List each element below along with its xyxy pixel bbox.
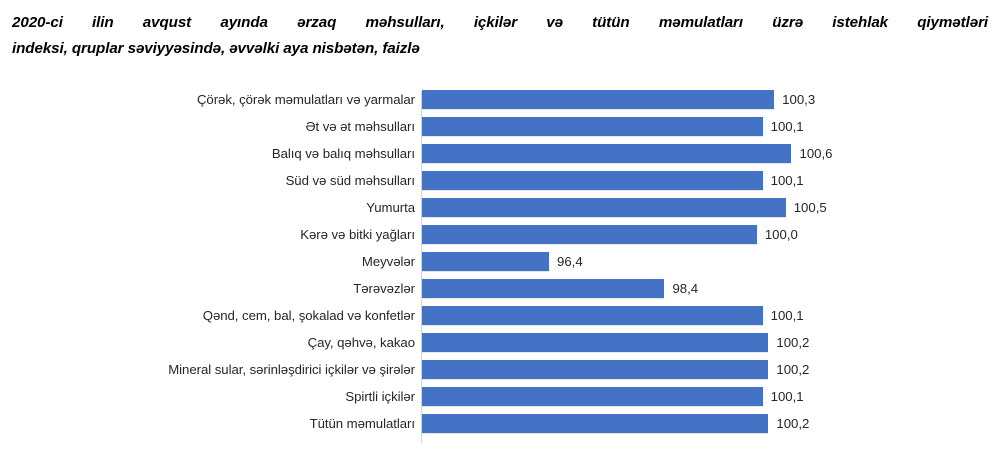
category-label: Meyvələr: [362, 248, 415, 275]
chart-title-line-1: 2020-ci ilin avqust ayında ərzaq məhsull…: [12, 10, 988, 36]
bar-track: 100,6: [422, 144, 982, 163]
category-label: Çörək, çörək məmulatları və yarmalar: [197, 86, 415, 113]
bar-value-label: 100,1: [771, 171, 804, 190]
bar-track: 100,5: [422, 198, 982, 217]
bar-track: 100,0: [422, 225, 982, 244]
bar[interactable]: [422, 198, 786, 217]
bar-row: Yumurta100,5: [0, 194, 1000, 221]
bar[interactable]: [422, 306, 763, 325]
bar-track: 100,1: [422, 306, 982, 325]
bar-track: 100,3: [422, 90, 982, 109]
bar-track: 100,1: [422, 171, 982, 190]
bar-value-label: 100,0: [765, 225, 798, 244]
bar-track: 96,4: [422, 252, 982, 271]
bar[interactable]: [422, 225, 757, 244]
bar-row: Süd və süd məhsulları100,1: [0, 167, 1000, 194]
bar-row: Çay, qəhvə, kakao100,2: [0, 329, 1000, 356]
bar-value-label: 100,5: [794, 198, 827, 217]
bar-row: Mineral sular, sərinləşdirici içkilər və…: [0, 356, 1000, 383]
bar-row: Qənd, cem, bal, şokalad və konfetlər100,…: [0, 302, 1000, 329]
bar-row: Çörək, çörək məmulatları və yarmalar100,…: [0, 86, 1000, 113]
category-label: Süd və süd məhsulları: [286, 167, 415, 194]
category-label: Ət və ət məhsulları: [306, 113, 415, 140]
bar-track: 100,2: [422, 414, 982, 433]
bar-track: 100,1: [422, 387, 982, 406]
chart-title-line-2: indeksi, qruplar səviyyəsində, əvvəlki a…: [12, 36, 988, 62]
bar-track: 100,1: [422, 117, 982, 136]
bar-value-label: 100,1: [771, 387, 804, 406]
bar[interactable]: [422, 333, 768, 352]
bar-track: 100,2: [422, 360, 982, 379]
bar[interactable]: [422, 171, 763, 190]
bar-series: Çörək, çörək məmulatları və yarmalar100,…: [0, 86, 1000, 437]
bar-track: 100,2: [422, 333, 982, 352]
bar[interactable]: [422, 414, 768, 433]
bar-row: Spirtli içkilər100,1: [0, 383, 1000, 410]
bar-track: 98,4: [422, 279, 982, 298]
chart-plot-area: Çörək, çörək məmulatları və yarmalar100,…: [0, 86, 1000, 446]
bar-row: Kərə və bitki yağları100,0: [0, 221, 1000, 248]
category-label: Mineral sular, sərinləşdirici içkilər və…: [168, 356, 415, 383]
bar-value-label: 100,2: [776, 360, 809, 379]
bar-row: Balıq və balıq məhsulları100,6: [0, 140, 1000, 167]
bar-row: Ət və ət məhsulları100,1: [0, 113, 1000, 140]
bar[interactable]: [422, 387, 763, 406]
bar-row: Tərəvəzlər98,4: [0, 275, 1000, 302]
chart-title: 2020-ci ilin avqust ayında ərzaq məhsull…: [12, 10, 988, 62]
bar[interactable]: [422, 117, 763, 136]
bar-row: Tütün məmulatları100,2: [0, 410, 1000, 437]
bar-value-label: 100,1: [771, 117, 804, 136]
bar[interactable]: [422, 144, 791, 163]
bar-value-label: 100,1: [771, 306, 804, 325]
bar[interactable]: [422, 360, 768, 379]
category-label: Tərəvəzlər: [353, 275, 415, 302]
category-label: Balıq və balıq məhsulları: [272, 140, 415, 167]
category-label: Qənd, cem, bal, şokalad və konfetlər: [203, 302, 415, 329]
bar[interactable]: [422, 252, 549, 271]
category-label: Tütün məmulatları: [310, 410, 415, 437]
bar-row: Meyvələr96,4: [0, 248, 1000, 275]
category-label: Spirtli içkilər: [345, 383, 415, 410]
bar-value-label: 100,6: [799, 144, 832, 163]
bar-value-label: 100,3: [782, 90, 815, 109]
category-label: Kərə və bitki yağları: [300, 221, 415, 248]
bar-value-label: 100,2: [776, 333, 809, 352]
bar[interactable]: [422, 90, 774, 109]
bar-value-label: 100,2: [776, 414, 809, 433]
bar[interactable]: [422, 279, 664, 298]
bar-value-label: 96,4: [557, 252, 583, 271]
bar-value-label: 98,4: [672, 279, 698, 298]
category-label: Çay, qəhvə, kakao: [308, 329, 415, 356]
category-label: Yumurta: [366, 194, 415, 221]
